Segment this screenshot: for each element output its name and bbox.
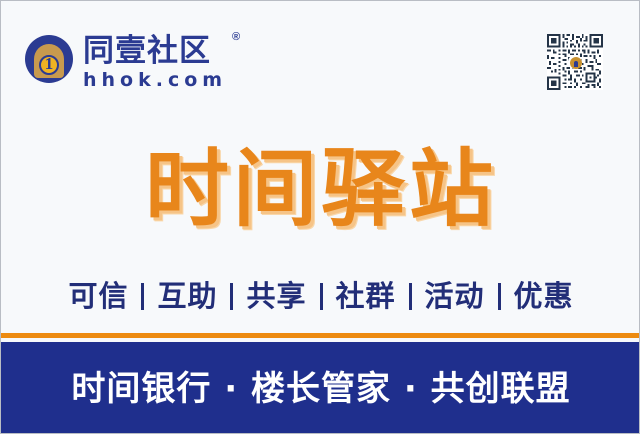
brand-text-block: 同壹社区 ® hhok.com <box>83 34 227 91</box>
keyword-item: 互助 <box>157 279 217 313</box>
main-title-zone: 时间驿站 <box>1 131 640 246</box>
keyword-list: 可信互助共享社群活动优惠 <box>68 279 573 313</box>
header-zone: 1 同壹社区 ® hhok.com <box>1 1 640 119</box>
keyword-separator <box>320 283 323 310</box>
keyword-item: 可信 <box>68 279 128 313</box>
keyword-separator <box>230 283 233 310</box>
brand-website: hhok.com <box>83 70 227 91</box>
logo-numeral: 1 <box>25 54 73 74</box>
registered-mark-icon: ® <box>232 31 240 43</box>
brand-name-cn: 同壹社区 <box>83 34 227 68</box>
keyword-separator <box>498 283 501 310</box>
qr-center-logo-icon <box>568 55 582 69</box>
footer-band-text: 时间银行 · 楼长管家 · 共创联盟 <box>71 368 570 410</box>
keyword-item: 优惠 <box>514 279 574 313</box>
brand-logo: 1 同壹社区 ® hhok.com <box>25 34 227 91</box>
keyword-separator <box>409 283 412 310</box>
qr-code-icon[interactable] <box>547 34 603 90</box>
footer-band: 时间银行 · 楼长管家 · 共创联盟 <box>1 342 640 434</box>
page-title: 时间驿站 <box>145 141 497 237</box>
keyword-item: 社群 <box>336 279 396 313</box>
poster-canvas: 1 同壹社区 ® hhok.com <box>0 0 640 434</box>
keyword-separator <box>141 283 144 310</box>
keyword-row: 可信互助共享社群活动优惠 <box>1 273 640 319</box>
keyword-item: 共享 <box>246 279 306 313</box>
hhok-circle-arch-one-logo-icon: 1 <box>25 35 73 83</box>
keyword-item: 活动 <box>425 279 485 313</box>
